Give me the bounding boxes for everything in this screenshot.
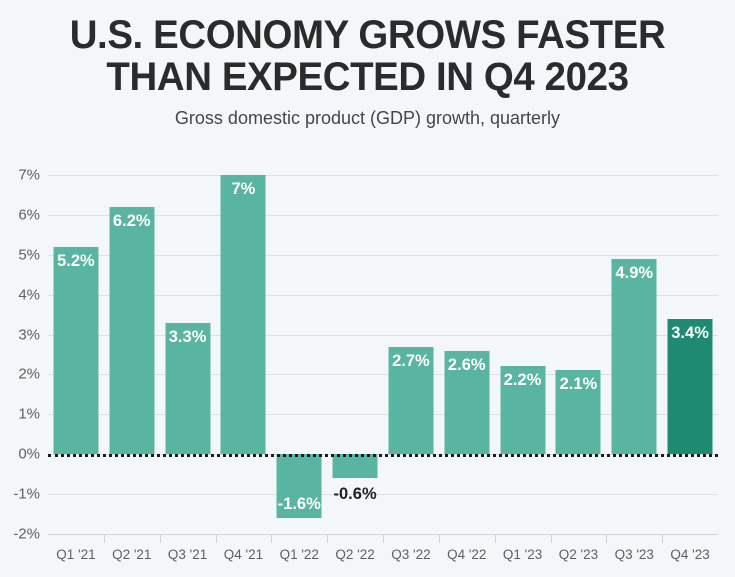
- y-axis-tick-label: -1%: [13, 486, 40, 503]
- bar[interactable]: [53, 247, 98, 454]
- bar-value-label: 5.2%: [57, 252, 95, 271]
- bar-value-label: 6.2%: [113, 212, 151, 231]
- zero-baseline: [48, 454, 718, 457]
- bar-slot: 3.3%: [160, 152, 216, 557]
- y-axis-labels: 7%6%5%4%3%2%1%0%-1%-2%: [0, 152, 48, 557]
- bar-value-label: 2.7%: [392, 352, 430, 371]
- bar-value-label: 4.9%: [615, 264, 653, 283]
- y-axis-tick-label: 2%: [18, 366, 40, 383]
- bar-slot: 2.2%: [495, 152, 551, 557]
- bar-slot: -1.6%: [271, 152, 327, 557]
- bar-slot: 2.1%: [551, 152, 607, 557]
- chart-header: U.S. ECONOMY GROWS FASTER THAN EXPECTED …: [0, 0, 735, 129]
- bar-value-label: 2.1%: [560, 375, 598, 394]
- y-axis-tick-label: -2%: [13, 526, 40, 543]
- bar-slot: 2.6%: [439, 152, 495, 557]
- bar-value-label: -0.6%: [334, 485, 377, 504]
- bar-slot: 7%: [216, 152, 272, 557]
- y-axis-tick-label: 4%: [18, 286, 40, 303]
- chart-page: U.S. ECONOMY GROWS FASTER THAN EXPECTED …: [0, 0, 735, 577]
- bar-value-label: 3.3%: [169, 328, 207, 347]
- bar-series: 5.2%6.2%3.3%7%-1.6%-0.6%2.7%2.6%2.2%2.1%…: [48, 152, 718, 557]
- bar-slot: -0.6%: [327, 152, 383, 557]
- page-title: U.S. ECONOMY GROWS FASTER THAN EXPECTED …: [32, 14, 703, 99]
- bar-slot: 5.2%: [48, 152, 104, 557]
- plot-canvas: 5.2%6.2%3.3%7%-1.6%-0.6%2.7%2.6%2.2%2.1%…: [48, 152, 718, 557]
- y-axis-tick-label: 6%: [18, 206, 40, 223]
- bar-slot: 2.7%: [383, 152, 439, 557]
- y-axis-tick-label: 1%: [18, 406, 40, 423]
- bar-slot: 3.4%: [662, 152, 718, 557]
- y-axis-tick-label: 0%: [18, 446, 40, 463]
- y-axis-tick-label: 7%: [18, 167, 40, 184]
- bar-value-label: -1.6%: [278, 495, 321, 514]
- bar[interactable]: [612, 259, 657, 454]
- bar-value-label: 3.4%: [671, 324, 709, 343]
- bar[interactable]: [333, 454, 378, 478]
- chart-plot-area: 7%6%5%4%3%2%1%0%-1%-2% 5.2%6.2%3.3%7%-1.…: [0, 152, 735, 577]
- bar-slot: 6.2%: [104, 152, 160, 557]
- bar[interactable]: [109, 207, 154, 454]
- bar[interactable]: [221, 175, 266, 454]
- y-axis-tick-label: 5%: [18, 246, 40, 263]
- bar-value-label: 7%: [231, 180, 255, 199]
- bar-value-label: 2.2%: [504, 371, 542, 390]
- chart-subtitle: Gross domestic product (GDP) growth, qua…: [18, 108, 717, 129]
- y-axis-tick-label: 3%: [18, 326, 40, 343]
- bar-slot: 4.9%: [606, 152, 662, 557]
- bar-value-label: 2.6%: [448, 356, 486, 375]
